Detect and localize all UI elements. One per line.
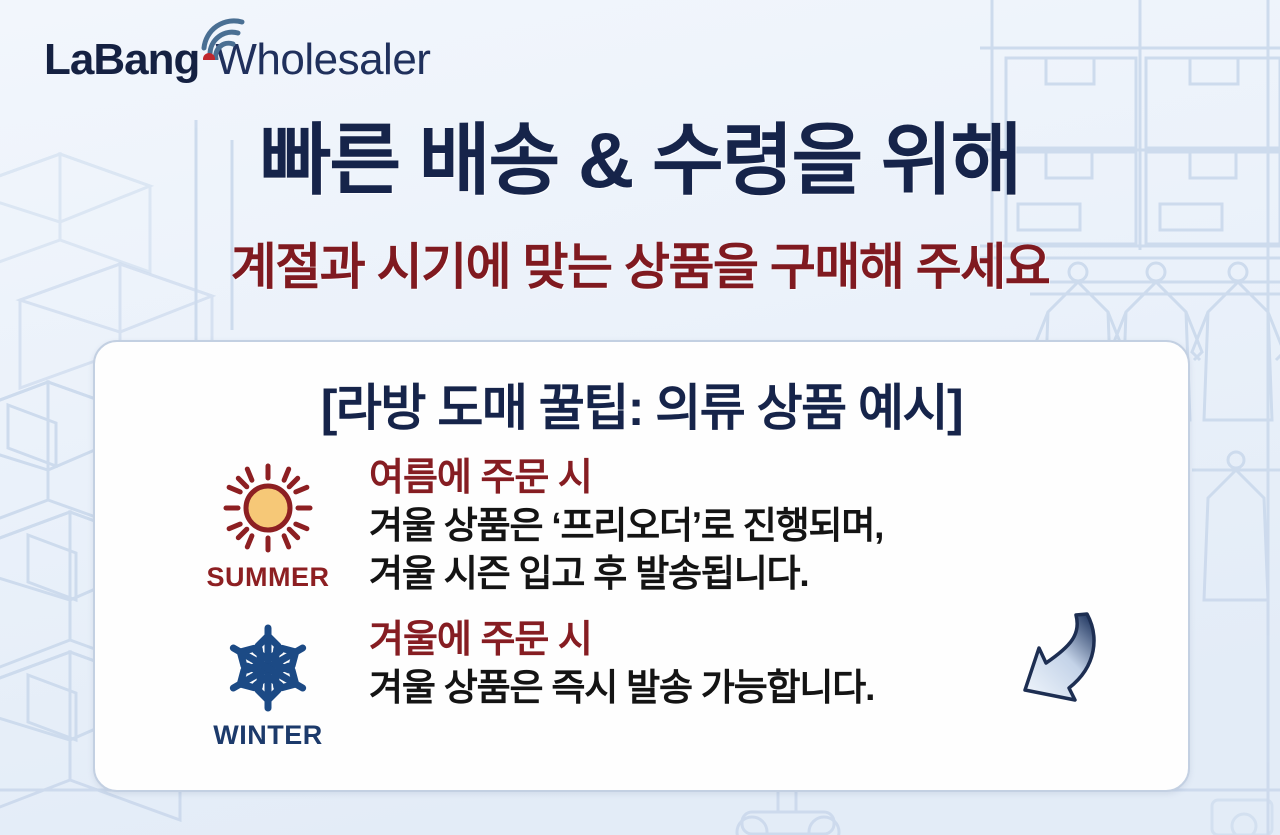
winter-body-line-1: 겨울 상품은 즉시 발송 가능합니다. <box>369 665 874 712</box>
brand-logo: LaBang Wholesaler <box>44 38 430 82</box>
tip-card: [라방 도매 꿀팁: 의류 상품 예시] <box>93 340 1190 792</box>
snowflake-icon <box>222 622 314 714</box>
sun-icon <box>220 460 316 556</box>
winter-heading: 겨울에 주문 시 <box>369 618 874 663</box>
curved-arrow-icon <box>1013 608 1123 720</box>
page-subheadline: 계절과 시기에 맞는 상품을 구매해 주세요 <box>0 240 1280 295</box>
summer-text-column: 여름에 주문 시 겨울 상품은 ‘프리오더’로 진행되며, 겨울 시즌 입고 후… <box>357 454 883 598</box>
summer-body-line-2: 겨울 시즌 입고 후 발송됩니다. <box>369 551 883 598</box>
wifi-signal-icon <box>196 16 258 60</box>
summer-heading: 여름에 주문 시 <box>369 456 883 501</box>
card-title: [라방 도매 꿀팁: 의류 상품 예시] <box>95 368 1188 440</box>
winter-icon-column: WINTER <box>179 616 357 751</box>
page-headline: 빠른 배송 & 수령을 위해 <box>0 118 1280 202</box>
brand-name-bold: LaBang <box>44 38 199 82</box>
winter-label: WINTER <box>213 720 322 751</box>
summer-icon-column: SUMMER <box>179 454 357 593</box>
summer-label: SUMMER <box>207 562 330 593</box>
season-row-summer: SUMMER 여름에 주문 시 겨울 상품은 ‘프리오더’로 진행되며, 겨울 … <box>95 454 1188 598</box>
summer-body-line-1: 겨울 상품은 ‘프리오더’로 진행되며, <box>369 503 883 550</box>
winter-text-column: 겨울에 주문 시 겨울 상품은 즉시 발송 가능합니다. <box>357 616 874 711</box>
